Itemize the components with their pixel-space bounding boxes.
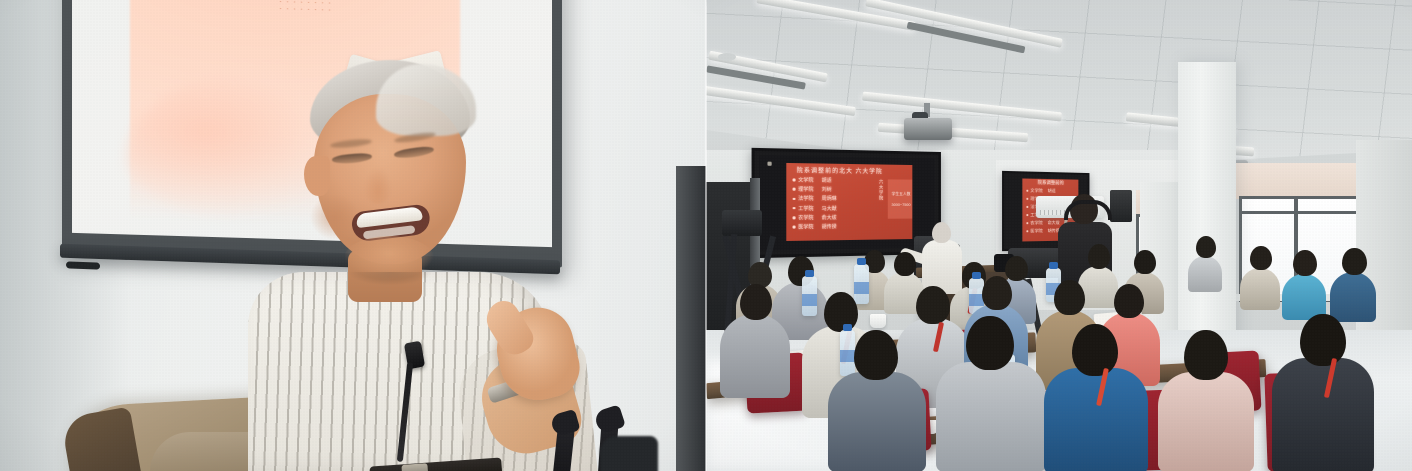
audience-torso (828, 372, 926, 471)
audience-head (1114, 284, 1144, 318)
slide-cell-college: 农学院 (1030, 220, 1042, 226)
slide-cell-college: 理学院 (798, 186, 813, 193)
slide-cell-name: 周炳琳 (822, 195, 837, 202)
slide-cell-college: 医学院 (798, 223, 813, 230)
audience-member (828, 330, 926, 471)
slide-title: 院系调整前的北大 六大学院 (788, 165, 918, 176)
slide-title: 院系调整前的 (1024, 180, 1076, 187)
audience-head (1134, 250, 1156, 274)
bottle-cap (857, 258, 866, 265)
lecturer-hair-highlight (376, 64, 476, 136)
audience-head (982, 276, 1012, 310)
headphones-icon (1064, 200, 1112, 220)
slide-row: 工学院 马大猷 (793, 205, 871, 212)
slide-cell-name: 刘树 (822, 186, 832, 193)
audience-member (1240, 246, 1280, 306)
slide-highlight-box (888, 179, 913, 218)
audience-member (1044, 324, 1148, 471)
lecturer-nose (364, 164, 392, 204)
bullet-icon (1026, 214, 1028, 216)
tripod-head (722, 210, 762, 236)
audience-head (1072, 324, 1118, 376)
slide-cell-name: 俞大绂 (822, 214, 837, 221)
bullet-icon (1026, 230, 1028, 232)
front-lecturer-head (932, 222, 951, 243)
ceiling-projector (904, 118, 952, 140)
bullet-icon (1026, 206, 1028, 208)
audience-head (1293, 250, 1317, 276)
panel-divider (705, 0, 707, 471)
slide-cell-college: 工学院 (798, 205, 813, 212)
audience-head (824, 292, 858, 332)
slide-cell-name: 胡适 (822, 177, 832, 184)
audience-head (966, 316, 1014, 370)
audience-head (1300, 314, 1346, 366)
lecturer-ear (304, 156, 330, 196)
audience-head (894, 252, 916, 276)
audience-member (1282, 250, 1326, 316)
slide-cell-college: 农学院 (798, 214, 813, 221)
projected-slide-dots (277, 0, 333, 11)
audience-member (1158, 330, 1254, 471)
bottle-cap (805, 270, 814, 277)
slide-cell-name: 马大猷 (822, 205, 837, 212)
screen-corner-marker (767, 162, 771, 166)
audience-member (1272, 314, 1374, 471)
window-blind (1236, 163, 1360, 199)
slide-row: 文学院 胡适 (793, 176, 871, 184)
audience-member (1330, 248, 1376, 318)
bullet-icon (1026, 190, 1028, 192)
belt-buckle (401, 463, 428, 471)
audience-head (1342, 248, 1367, 275)
door-edge (676, 166, 706, 471)
audience-member (720, 284, 790, 394)
slide-cell-college: 文学院 (1030, 188, 1042, 194)
slide-bullet-list: 文学院 胡适 理学院 刘树 法学院 周炳琳 工 (793, 176, 871, 232)
audience-head (1088, 244, 1110, 269)
slide-row: 医学院 胡传揆 (793, 223, 871, 231)
audience-head (854, 330, 898, 380)
slide-cell-college: 文学院 (798, 176, 813, 183)
audience-member (1188, 236, 1222, 288)
projection-screen-pull-knob (66, 261, 100, 269)
composite-image: 院系调整前的北大 六大学院 文学院 胡适 理学院 刘树 法学院 (0, 0, 1412, 471)
audience-torso (1188, 256, 1222, 292)
audience-torso (936, 362, 1046, 471)
bullet-icon (793, 188, 796, 191)
audience-head (740, 284, 772, 320)
slide-cell-college: 医学院 (1030, 228, 1042, 234)
audience-torso (1240, 268, 1280, 310)
audience-head (1196, 236, 1216, 258)
slide-row: 农学院 俞大绂 (793, 214, 871, 222)
smoke-detector-icon (718, 53, 736, 61)
slide-side-note-2: 3000~7500 (889, 202, 914, 207)
bottle-cap (1049, 262, 1058, 269)
audience-member (936, 316, 1046, 471)
audience-torso (720, 314, 790, 398)
slide-cell-college: 法学院 (798, 195, 813, 202)
audience-head (1250, 246, 1272, 270)
audience-torso (1272, 358, 1374, 471)
audience-head (1054, 280, 1085, 315)
lecturer-figure (252, 60, 592, 471)
bullet-icon (1026, 222, 1028, 224)
lecturer-chin (344, 236, 434, 280)
bullet-icon (793, 197, 796, 200)
window-transom (1242, 211, 1360, 214)
audience-torso (1044, 368, 1148, 471)
right-photo-panel: 院系调整前的北大 六大学院 文学院 胡适 理学院 刘树 法学院 (706, 0, 1412, 471)
slide-side-note-1: 学生五人数 (889, 191, 914, 197)
structural-pillar (1178, 62, 1236, 362)
slide-cell-name: 胡适 (1048, 188, 1056, 194)
slide-row: 理学院 刘树 (793, 186, 871, 193)
slide-cell-name: 胡传揆 (822, 223, 837, 230)
bullet-icon (793, 179, 796, 182)
slide-vertical-note: 六大学院 (878, 179, 884, 201)
foreground-dark-object (600, 436, 658, 471)
slide-row: 法学院 周炳琳 (793, 195, 871, 202)
bullet-icon (1026, 198, 1028, 200)
audience-head (1184, 330, 1228, 380)
audience-torso (1158, 372, 1254, 471)
left-photo-panel (0, 0, 706, 471)
